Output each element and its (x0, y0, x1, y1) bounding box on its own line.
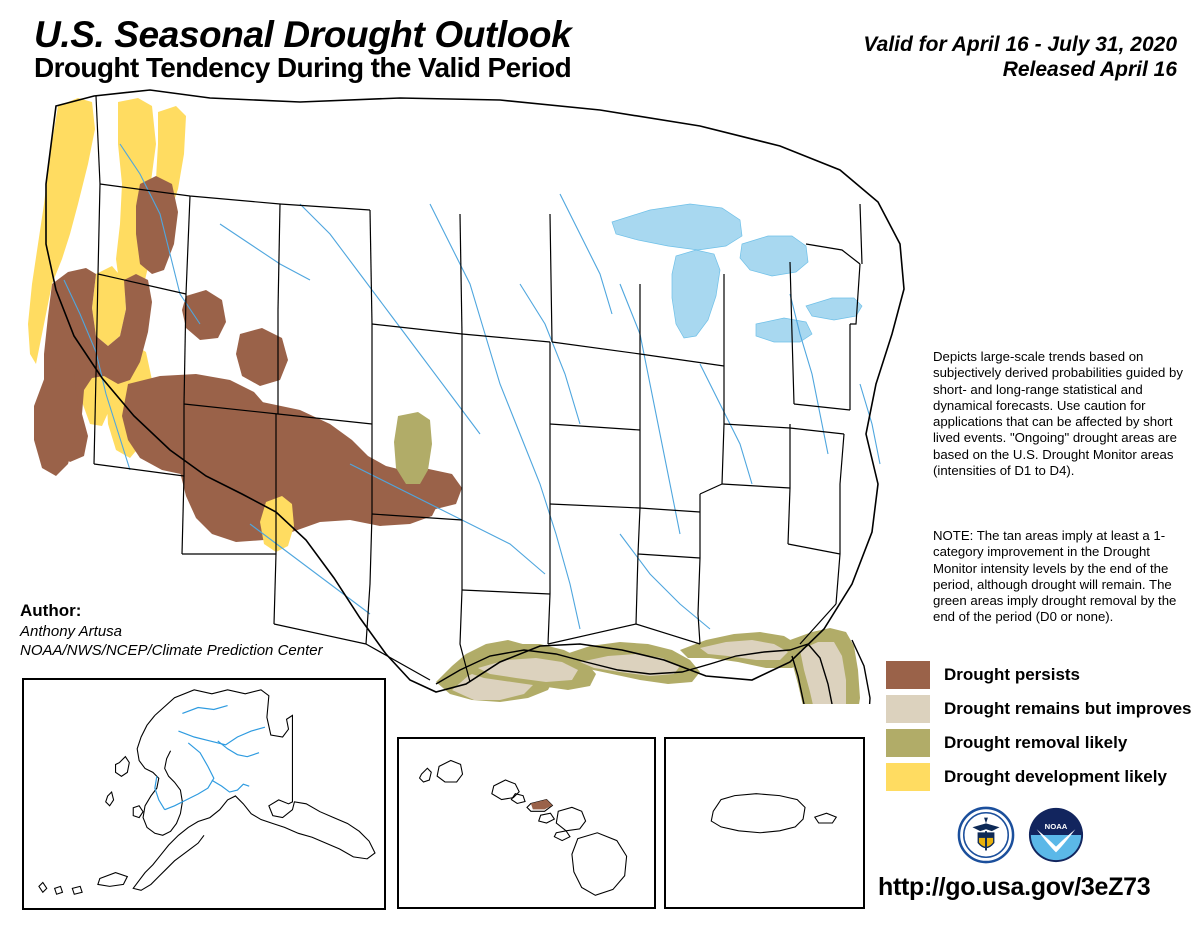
author-heading: Author: (20, 601, 323, 621)
author-name: Anthony Artusa (20, 622, 323, 641)
author-organization: NOAA/NWS/NCEP/Climate Prediction Center (20, 641, 323, 660)
page-subtitle: Drought Tendency During the Valid Period (34, 52, 571, 84)
region-florida (790, 628, 860, 704)
legend-label-improves: Drought remains but improves (944, 699, 1191, 719)
legend-swatch-removal (886, 729, 930, 757)
valid-period: Valid for April 16 - July 31, 2020 (863, 33, 1177, 57)
description-paragraph: Depicts large-scale trends based on subj… (933, 349, 1191, 479)
page-header: U.S. Seasonal Drought Outlook Drought Te… (0, 0, 1199, 92)
legend-label-removal: Drought removal likely (944, 733, 1127, 753)
noaa-logo: NOAA (1027, 806, 1085, 864)
alaska-outline (39, 690, 375, 894)
svg-text:NOAA: NOAA (1045, 822, 1068, 831)
legend-swatch-development (886, 763, 930, 791)
legend-item-persists: Drought persists (886, 658, 1196, 692)
puerto-rico-inset (664, 737, 865, 909)
legend-swatch-persists (886, 661, 930, 689)
puerto-rico-outline (711, 794, 836, 833)
url-link[interactable]: http://go.usa.gov/3eZ73 (878, 873, 1150, 902)
page-title: U.S. Seasonal Drought Outlook (34, 14, 571, 56)
legend-label-development: Drought development likely (944, 767, 1167, 787)
nws-logo (957, 806, 1015, 864)
released-date: Released April 16 (1003, 58, 1177, 82)
alaska-inset (22, 678, 386, 910)
legend-item-development: Drought development likely (886, 760, 1196, 794)
legend-label-persists: Drought persists (944, 665, 1080, 685)
legend-item-improves: Drought remains but improves (886, 692, 1196, 726)
alaska-rivers (155, 706, 265, 810)
author-block: Author: Anthony Artusa NOAA/NWS/NCEP/Cli… (20, 601, 323, 660)
note-paragraph: NOTE: The tan areas imply at least a 1-c… (933, 528, 1191, 626)
legend-swatch-improves (886, 695, 930, 723)
legend: Drought persists Drought remains but imp… (886, 658, 1196, 794)
hawaii-inset (397, 737, 656, 909)
legend-item-removal: Drought removal likely (886, 726, 1196, 760)
agency-logos: NOAA (957, 806, 1085, 864)
hawaii-islands (420, 760, 627, 895)
